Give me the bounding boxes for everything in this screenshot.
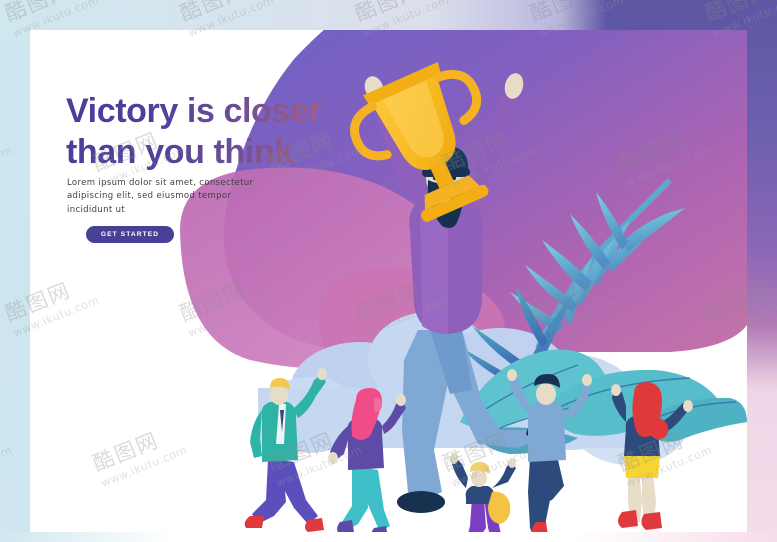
illustration-canvas: Victory is closer than you think Lorem i… xyxy=(0,0,777,542)
get-started-button[interactable]: GET STARTED xyxy=(86,226,174,243)
headline-line-2: than you think xyxy=(66,132,366,173)
page-title: Victory is closer than you think xyxy=(66,91,366,173)
hero-card: Victory is closer than you think Lorem i… xyxy=(30,30,747,542)
right-decor-band xyxy=(747,0,777,542)
hero-body-text: Lorem ipsum dolor sit amet, consectetur … xyxy=(67,177,267,218)
bottom-decor-band xyxy=(0,532,777,542)
headline-line-1: Victory is closer xyxy=(66,92,321,130)
character-woman-blonde-bag xyxy=(450,454,516,542)
left-decor-band xyxy=(0,0,30,542)
top-decor-band xyxy=(0,0,777,30)
